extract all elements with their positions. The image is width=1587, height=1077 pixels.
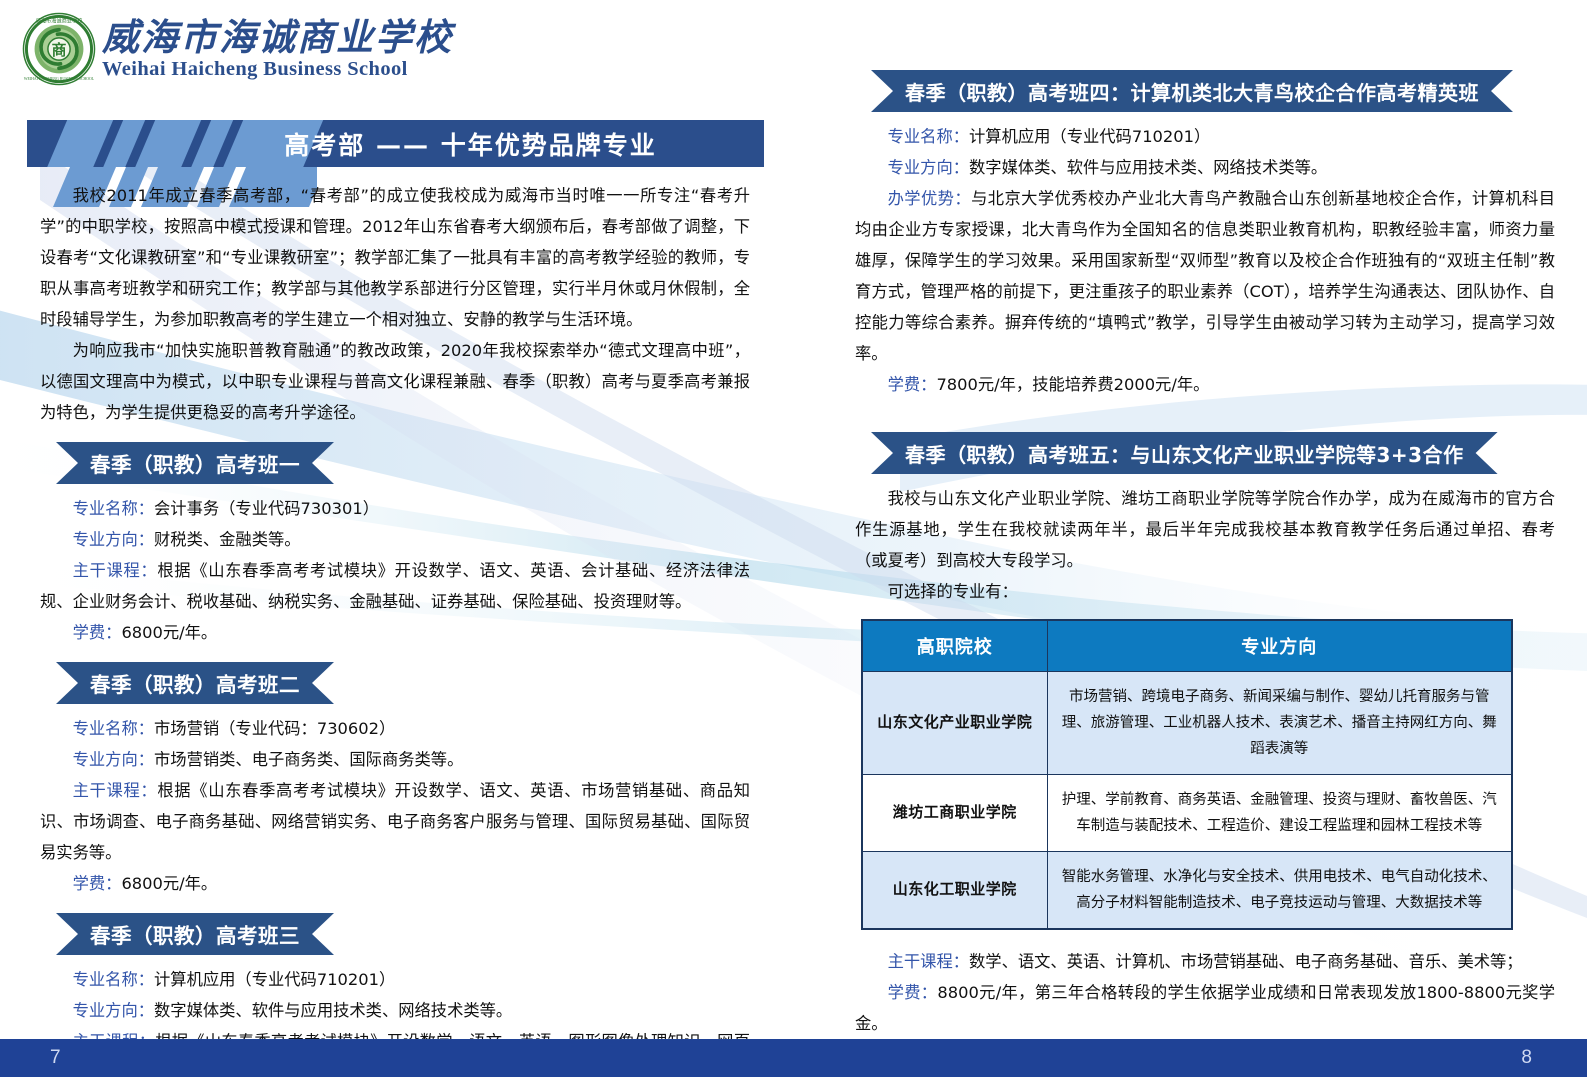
label-major-name: 专业名称： <box>73 499 154 518</box>
class3-major-name: 专业名称：计算机应用（专业代码710201） <box>40 964 750 995</box>
page-number-left: 7 <box>50 1047 61 1069</box>
left-column: 我校2011年成立春季高考部，“春考部”的成立使我校成为威海市当时唯一一所专注“… <box>40 180 750 1077</box>
class4-header: 春季（职教）高考班四：计算机类北大青鸟校企合作高考精英班 <box>871 70 1513 112</box>
table-cell-school: 山东文化产业职业学院 <box>862 672 1047 775</box>
label-tuition: 学费： <box>888 983 938 1002</box>
class1-core-courses: 主干课程：根据《山东春季高考考试模块》开设数学、语文、英语、会计基础、经济法律法… <box>40 555 750 617</box>
class2-core-courses: 主干课程：根据《山东春季高考考试模块》开设数学、语文、英语、市场营销基础、商品知… <box>40 775 750 868</box>
label-tuition: 学费： <box>73 874 122 893</box>
class5-tuition-value: 8800元/年，第三年合格转段的学生依据学业成绩和日常表现发放1800-8800… <box>855 983 1555 1033</box>
class3-header: 春季（职教）高考班三 <box>56 913 334 955</box>
class4-major-name-value: 计算机应用（专业代码710201） <box>969 127 1210 146</box>
class1-major-name-value: 会计事务（专业代码730301） <box>154 499 379 518</box>
class2-tuition: 学费：6800元/年。 <box>40 868 750 899</box>
table-row: 山东文化产业职业学院 市场营销、跨境电子商务、新闻采编与制作、婴幼儿托育服务与管… <box>862 672 1512 775</box>
class4-major-direction-value: 数字媒体类、软件与应用技术类、网络技术类等。 <box>969 158 1327 177</box>
class5-tuition: 学费：8800元/年，第三年合格转段的学生依据学业成绩和日常表现发放1800-8… <box>855 977 1555 1039</box>
intro-paragraph-1: 我校2011年成立春季高考部，“春考部”的成立使我校成为威海市当时唯一一所专注“… <box>40 180 750 335</box>
label-major-direction: 专业方向： <box>73 750 154 769</box>
table-cell-school: 山东化工职业学院 <box>862 852 1047 930</box>
table-row: 山东化工职业学院 智能水务管理、水净化与安全技术、供用电技术、电气自动化技术、高… <box>862 852 1512 930</box>
class3-major-name-value: 计算机应用（专业代码710201） <box>154 970 395 989</box>
label-core-courses: 主干课程： <box>73 781 158 800</box>
class4-advantage-value: 与北京大学优秀校办产业北大青鸟产教融合山东创新基地校企合作，计算机科目均由企业方… <box>855 189 1555 363</box>
label-major-name: 专业名称： <box>73 719 154 738</box>
table-row: 潍坊工商职业学院 护理、学前教育、商务英语、金融管理、投资与理财、畜牧兽医、汽车… <box>862 775 1512 852</box>
school-name-en: Weihai Haicheng Business School <box>102 58 453 81</box>
table-col-school: 高职院校 <box>862 620 1047 672</box>
class5-core-courses-value: 数学、语文、英语、计算机、市场营销基础、电子商务基础、音乐、美术等； <box>969 952 1523 971</box>
class3-major-direction-value: 数字媒体类、软件与应用技术类、网络技术类等。 <box>154 1001 512 1020</box>
label-tuition: 学费： <box>888 375 937 394</box>
class3-major-direction: 专业方向：数字媒体类、软件与应用技术类、网络技术类等。 <box>40 995 750 1026</box>
label-major-direction: 专业方向： <box>888 158 969 177</box>
intro-paragraph-2: 为响应我市“加快实施职普教育融通”的教改政策，2020年我校探索举办“德式文理高… <box>40 335 750 428</box>
section-title-bar: 高考部 —— 十年优势品牌专业 <box>27 120 764 167</box>
class4-major-name: 专业名称：计算机应用（专业代码710201） <box>855 121 1555 152</box>
svg-text:商: 商 <box>52 41 67 59</box>
class4-tuition-value: 7800元/年，技能培养费2000元/年。 <box>936 375 1209 394</box>
class1-major-direction: 专业方向：财税类、金融类等。 <box>40 524 750 555</box>
table-cell-majors: 市场营销、跨境电子商务、新闻采编与制作、婴幼儿托育服务与管理、旅游管理、工业机器… <box>1047 672 1512 775</box>
class2-major-name: 专业名称：市场营销（专业代码：730602） <box>40 713 750 744</box>
class2-tuition-value: 6800元/年。 <box>121 874 217 893</box>
svg-text:WEIHAI HAICHENG BUSINESS SCHOO: WEIHAI HAICHENG BUSINESS SCHOOL <box>24 77 95 81</box>
class1-major-name: 专业名称：会计事务（专业代码730301） <box>40 493 750 524</box>
school-name-cn: 威海市海诚商业学校 <box>102 18 453 58</box>
class1-tuition-value: 6800元/年。 <box>121 623 217 642</box>
class5-core-courses: 主干课程：数学、语文、英语、计算机、市场营销基础、电子商务基础、音乐、美术等； <box>855 946 1555 977</box>
class2-major-direction-value: 市场营销类、电子商务类、国际商务类等。 <box>154 750 463 769</box>
table-header-row: 高职院校 专业方向 <box>862 620 1512 672</box>
label-core-courses: 主干课程： <box>73 561 158 580</box>
label-major-name: 专业名称： <box>888 127 969 146</box>
class4-tuition: 学费：7800元/年，技能培养费2000元/年。 <box>855 369 1555 400</box>
class5-options-intro: 可选择的专业有： <box>855 576 1555 607</box>
right-column: 春季（职教）高考班四：计算机类北大青鸟校企合作高考精英班 专业名称：计算机应用（… <box>855 70 1555 1039</box>
class2-major-direction: 专业方向：市场营销类、电子商务类、国际商务类等。 <box>40 744 750 775</box>
label-major-direction: 专业方向： <box>73 530 154 549</box>
label-tuition: 学费： <box>73 623 122 642</box>
class5-paragraph: 我校与山东文化产业职业学院、潍坊工商职业学院等学院合作办学，成为在威海市的官方合… <box>855 483 1555 576</box>
label-core-courses: 主干课程： <box>888 952 969 971</box>
page-number-right: 8 <box>1521 1047 1532 1069</box>
label-major-direction: 专业方向： <box>73 1001 154 1020</box>
label-advantage: 办学优势： <box>888 189 971 208</box>
table-cell-majors: 智能水务管理、水净化与安全技术、供用电技术、电气自动化技术、高分子材料智能制造技… <box>1047 852 1512 930</box>
school-logo-area: 商 威海市海诚商业学校 WEIHAI HAICHENG BUSINESS SCH… <box>22 12 453 86</box>
page-footer: 7 8 <box>0 1039 1587 1077</box>
class1-tuition: 学费：6800元/年。 <box>40 617 750 648</box>
school-name-block: 威海市海诚商业学校 Weihai Haicheng Business Schoo… <box>102 18 453 81</box>
class4-advantage: 办学优势：与北京大学优秀校办产业北大青鸟产教融合山东创新基地校企合作，计算机科目… <box>855 183 1555 369</box>
school-emblem-icon: 商 威海市海诚商业学校 WEIHAI HAICHENG BUSINESS SCH… <box>22 12 96 86</box>
label-major-name: 专业名称： <box>73 970 154 989</box>
class2-header: 春季（职教）高考班二 <box>56 662 334 704</box>
brochure-page: 商 威海市海诚商业学校 WEIHAI HAICHENG BUSINESS SCH… <box>0 0 1587 1077</box>
class2-major-name-value: 市场营销（专业代码：730602） <box>154 719 395 738</box>
page-title: 高考部 —— 十年优势品牌专业 <box>27 120 764 167</box>
class4-major-direction: 专业方向：数字媒体类、软件与应用技术类、网络技术类等。 <box>855 152 1555 183</box>
table-cell-school: 潍坊工商职业学院 <box>862 775 1047 852</box>
class5-header: 春季（职教）高考班五：与山东文化产业职业学院等3+3合作 <box>871 432 1498 474</box>
table-cell-majors: 护理、学前教育、商务英语、金融管理、投资与理财、畜牧兽医、汽车制造与装配技术、工… <box>1047 775 1512 852</box>
class1-major-direction-value: 财税类、金融类等。 <box>154 530 301 549</box>
partner-colleges-table: 高职院校 专业方向 山东文化产业职业学院 市场营销、跨境电子商务、新闻采编与制作… <box>861 619 1513 930</box>
class1-header: 春季（职教）高考班一 <box>56 442 334 484</box>
table-col-majors: 专业方向 <box>1047 620 1512 672</box>
